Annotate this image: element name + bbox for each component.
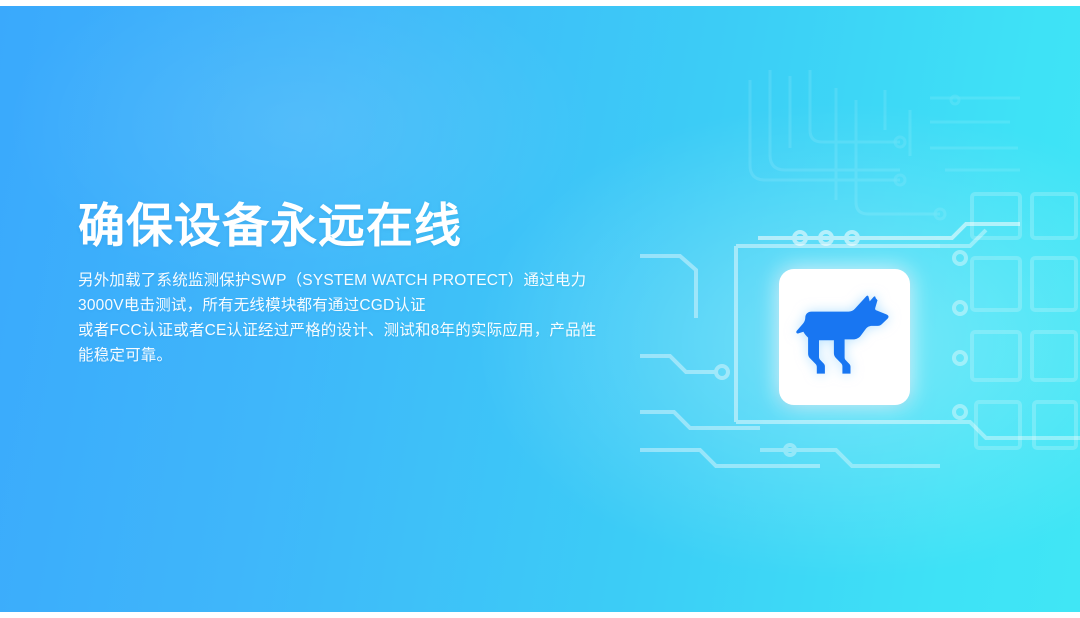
body-line-3: 或者FCC认证或者CE认证经过严格的设计、测试和8年的实际应用，产品性 — [78, 318, 698, 343]
bottom-edge-margin — [0, 612, 1080, 618]
body-line-4: 能稳定可靠。 — [78, 343, 698, 368]
page-title: 确保设备永远在线 — [78, 196, 698, 256]
body-copy: 另外加载了系统监测保护SWP（SYSTEM WATCH PROTECT）通过电力… — [78, 268, 698, 368]
top-edge-margin — [0, 0, 1080, 6]
wolf-icon — [789, 287, 901, 387]
body-line-1: 另外加载了系统监测保护SWP（SYSTEM WATCH PROTECT）通过电力 — [78, 268, 698, 293]
promo-banner: 确保设备永远在线 另外加载了系统监测保护SWP（SYSTEM WATCH PRO… — [0, 0, 1080, 618]
body-line-2: 3000V电击测试，所有无线模块都有通过CGD认证 — [78, 293, 698, 318]
chip-card — [779, 269, 910, 405]
text-block: 确保设备永远在线 另外加载了系统监测保护SWP（SYSTEM WATCH PRO… — [78, 196, 698, 368]
